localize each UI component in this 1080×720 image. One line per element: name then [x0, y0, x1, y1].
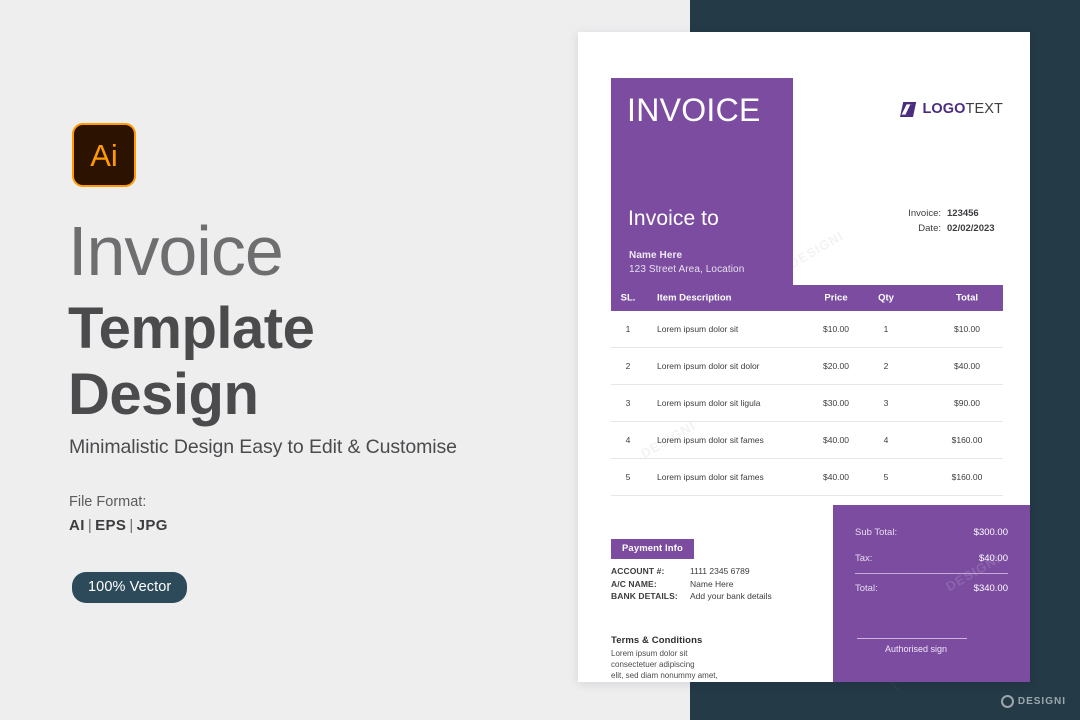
company-logo: LOGOTEXT — [900, 102, 1003, 117]
invoice-title: INVOICE — [627, 92, 761, 129]
cell-total: $90.00 — [931, 398, 1003, 408]
cell-description: Lorem ipsum dolor sit fames — [657, 435, 764, 445]
file-format-ai: AI — [69, 517, 85, 534]
client-name: Name Here — [629, 250, 682, 261]
designi-logo-icon — [1001, 695, 1014, 708]
adobe-illustrator-icon: Ai — [72, 123, 136, 187]
payment-account-label: ACCOUNT #: — [611, 565, 690, 578]
signature-line — [857, 638, 967, 639]
cell-description: Lorem ipsum dolor sit — [657, 324, 738, 334]
cell-qty: 5 — [866, 472, 906, 482]
totals-divider — [855, 573, 1008, 574]
slash-logo-icon — [900, 102, 917, 117]
payment-row-bank: BANK DETAILS: Add your bank details — [611, 590, 772, 603]
promo-title-line-1: Invoice — [68, 216, 283, 286]
cell-total: $40.00 — [931, 361, 1003, 371]
column-header-price: Price — [811, 293, 861, 304]
cell-total: $10.00 — [931, 324, 1003, 334]
watermark-text: DESIGNI — [786, 228, 846, 271]
logo-text-light: TEXT — [966, 101, 1003, 117]
cell-price: $40.00 — [811, 472, 861, 482]
tax-row: Tax: $40.00 — [855, 553, 1008, 564]
cell-price: $20.00 — [811, 361, 861, 371]
total-label: Total: — [855, 583, 878, 594]
cell-sl: 1 — [611, 324, 645, 334]
cell-total: $160.00 — [931, 435, 1003, 445]
vector-badge: 100% Vector — [72, 572, 187, 603]
table-row: 3 Lorem ipsum dolor sit ligula $30.00 3 … — [611, 385, 1003, 422]
cell-price: $10.00 — [811, 324, 861, 334]
cell-price: $30.00 — [811, 398, 861, 408]
designi-brand-label: DESIGNI — [1018, 696, 1066, 707]
cell-price: $40.00 — [811, 435, 861, 445]
column-header-sl: SL. — [611, 293, 645, 304]
payment-account-value: 1111 2345 6789 — [690, 565, 750, 578]
file-format-values: AI|EPS|JPG — [69, 517, 168, 534]
payment-info-list: ACCOUNT #: 1111 2345 6789 A/C NAME: Name… — [611, 565, 772, 603]
total-value: $340.00 — [974, 583, 1008, 594]
invoice-date-row: Date: 02/02/2023 — [908, 221, 1003, 236]
payment-bank-label: BANK DETAILS: — [611, 590, 690, 603]
cell-qty: 1 — [866, 324, 906, 334]
invoice-date-label: Date: — [918, 221, 941, 236]
subtotal-value: $300.00 — [974, 527, 1008, 538]
table-row: 5 Lorem ipsum dolor sit fames $40.00 5 $… — [611, 459, 1003, 496]
invoice-card: DESIGNI DESIGNI DESIGNI DESIGNI INVOICE … — [578, 32, 1030, 682]
invoice-meta: Invoice: 123456 Date: 02/02/2023 — [908, 206, 1003, 236]
terms-line-2: consectetuer adipiscing — [611, 659, 718, 670]
tax-value: $40.00 — [979, 553, 1008, 564]
total-row: Total: $340.00 — [855, 583, 1008, 594]
file-format-eps: EPS — [95, 517, 126, 534]
totals-panel: DESIGNI Sub Total: $300.00 Tax: $40.00 T… — [833, 505, 1030, 682]
payment-info-badge: Payment Info — [611, 539, 694, 559]
logo-text-bold: LOGO — [922, 101, 965, 117]
invoice-to-heading: Invoice to — [628, 207, 719, 231]
subtotal-row: Sub Total: $300.00 — [855, 527, 1008, 538]
signature-label: Authorised sign — [857, 644, 975, 654]
cell-description: Lorem ipsum dolor sit ligula — [657, 398, 760, 408]
terms-line-1: Lorem ipsum dolor sit — [611, 648, 718, 659]
cell-sl: 4 — [611, 435, 645, 445]
table-row: 4 Lorem ipsum dolor sit fames $40.00 4 $… — [611, 422, 1003, 459]
invoice-header-block: INVOICE Invoice to Name Here 123 Street … — [611, 78, 793, 285]
cell-total: $160.00 — [931, 472, 1003, 482]
terms-body: Lorem ipsum dolor sit consectetuer adipi… — [611, 648, 718, 681]
cell-qty: 4 — [866, 435, 906, 445]
subtotal-label: Sub Total: — [855, 527, 897, 538]
invoice-date-value: 02/02/2023 — [947, 221, 1003, 236]
table-row: 1 Lorem ipsum dolor sit $10.00 1 $10.00 — [611, 311, 1003, 348]
table-row: 2 Lorem ipsum dolor sit dolor $20.00 2 $… — [611, 348, 1003, 385]
table-header-row: SL. Item Description Price Qty Total — [611, 285, 1003, 311]
format-separator-2: | — [126, 517, 136, 534]
cell-sl: 5 — [611, 472, 645, 482]
designi-brand-watermark: DESIGNI — [1001, 695, 1066, 708]
column-header-total: Total — [931, 293, 1003, 304]
terms-title: Terms & Conditions — [611, 635, 702, 646]
payment-row-account: ACCOUNT #: 1111 2345 6789 — [611, 565, 772, 578]
cell-description: Lorem ipsum dolor sit fames — [657, 472, 764, 482]
cell-description: Lorem ipsum dolor sit dolor — [657, 361, 760, 371]
column-header-description: Item Description — [657, 293, 731, 304]
cell-sl: 3 — [611, 398, 645, 408]
promo-subtitle: Minimalistic Design Easy to Edit & Custo… — [69, 436, 457, 459]
payment-bank-value: Add your bank details — [690, 590, 772, 603]
client-address: 123 Street Area, Location — [629, 264, 744, 275]
invoice-number-row: Invoice: 123456 — [908, 206, 1003, 221]
file-format-label: File Format: — [69, 494, 146, 510]
logo-text: LOGOTEXT — [922, 102, 1003, 117]
cell-sl: 2 — [611, 361, 645, 371]
column-header-qty: Qty — [866, 293, 906, 304]
payment-name-value: Name Here — [690, 578, 733, 591]
promo-title-line-2: Template — [68, 300, 314, 358]
payment-row-name: A/C NAME: Name Here — [611, 578, 772, 591]
terms-line-3: elit, sed diam nonummy amet, — [611, 670, 718, 681]
promo-title-line-3: Design — [68, 366, 258, 424]
cell-qty: 3 — [866, 398, 906, 408]
file-format-jpg: JPG — [137, 517, 168, 534]
invoice-number-value: 123456 — [947, 206, 1003, 221]
payment-name-label: A/C NAME: — [611, 578, 690, 591]
invoice-number-label: Invoice: — [908, 206, 941, 221]
cell-qty: 2 — [866, 361, 906, 371]
ai-badge-label: Ai — [90, 140, 118, 171]
format-separator-1: | — [85, 517, 95, 534]
poster-canvas: DESIGNI Ai Invoice Template Design Minim… — [0, 0, 1080, 720]
tax-label: Tax: — [855, 553, 872, 564]
